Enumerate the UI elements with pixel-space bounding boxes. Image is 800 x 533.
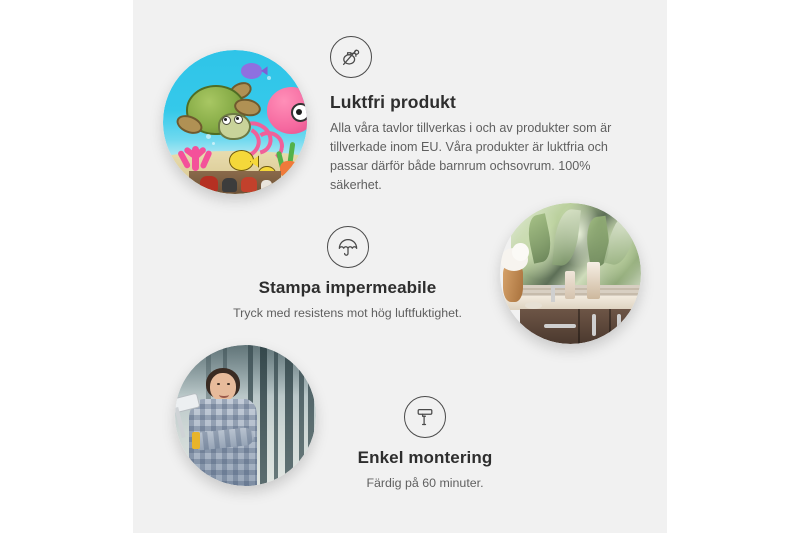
- coral: [175, 131, 218, 171]
- faucet: [551, 285, 555, 302]
- no-fragrance-icon: [330, 36, 372, 78]
- umbrella-icon: [327, 226, 369, 268]
- purple-fish: [241, 63, 263, 79]
- starfish: [280, 161, 299, 178]
- product-photo-bathroom: [500, 203, 641, 344]
- feature-block-odorless: Luktfri produkt Alla våra tavlor tillver…: [330, 36, 630, 195]
- turtle-eye: [222, 116, 231, 125]
- product-photo-forest: [175, 345, 316, 486]
- paint-roller-icon: [404, 396, 446, 438]
- feature-block-assembly: Enkel montering Färdig på 60 minuter.: [300, 396, 550, 493]
- feature-title: Luktfri produkt: [330, 92, 630, 113]
- forest-canopy: [175, 345, 316, 396]
- cabinet-handle: [617, 314, 621, 336]
- cabinet-handle: [592, 314, 596, 336]
- octopus-head: [267, 87, 307, 133]
- turtle-eye: [234, 115, 243, 124]
- feature-description: Färdig på 60 minuter.: [300, 474, 550, 493]
- vanity-cabinet: [520, 309, 641, 344]
- person-smile: [219, 392, 229, 398]
- feature-description: Alla våra tavlor tillverkas i och av pro…: [330, 119, 630, 195]
- soap-bottle: [587, 262, 600, 299]
- bubble: [267, 76, 271, 80]
- feature-title: Enkel montering: [300, 448, 550, 468]
- soap-bottle: [565, 271, 575, 299]
- product-feature-banner: Luktfri produkt Alla våra tavlor tillver…: [0, 0, 800, 533]
- octopus-eye: [291, 103, 307, 122]
- feature-description: Tryck med resistens mot hög luftfuktighe…: [200, 304, 495, 323]
- bubble: [206, 134, 211, 139]
- feature-block-waterproof: Stampa impermeabile Tryck med resistens …: [200, 226, 495, 323]
- white-flowers: [500, 248, 528, 271]
- feature-title: Stampa impermeabile: [200, 278, 495, 298]
- product-photo-ocean: [163, 50, 307, 194]
- paint-roller-grip: [192, 432, 200, 449]
- person-eye: [217, 383, 220, 385]
- drawer-handle: [544, 324, 576, 328]
- soap-dish: [525, 302, 542, 309]
- room-foreground: [189, 171, 281, 194]
